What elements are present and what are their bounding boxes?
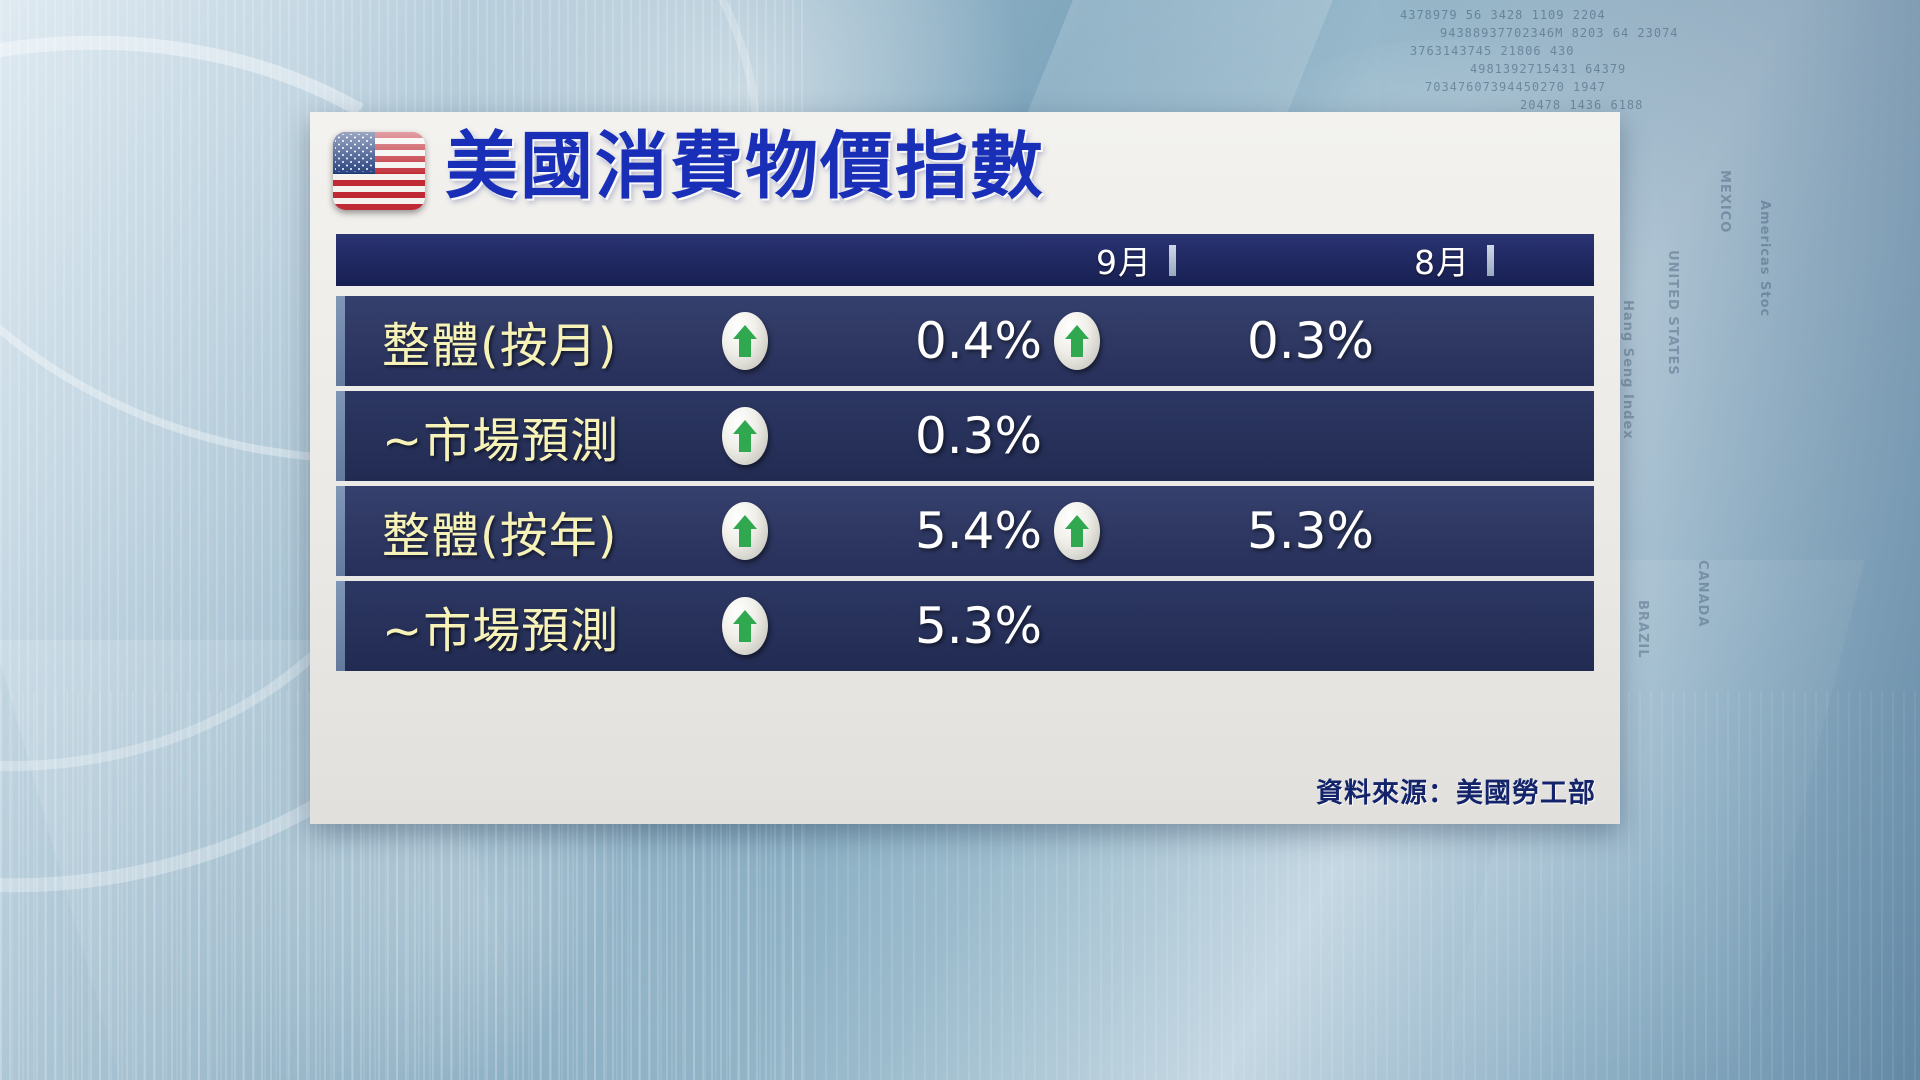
table-body: 整體(按月) 0.4% 0.3% ~市場預測 0.3% [336,296,1594,671]
us-flag-icon [333,132,425,210]
row-edge-accent [336,391,345,481]
column-divider-icon [1169,245,1176,276]
up-arrow-icon [722,597,768,655]
up-arrow-icon [1054,312,1100,370]
up-arrow-icon [722,407,768,465]
row-label: ~市場預測 [382,401,619,471]
row-edge-accent [336,581,345,671]
row-value-sep: 0.4% [806,312,1042,370]
table-row: 整體(按月) 0.4% 0.3% [336,296,1594,386]
row-edge-accent [336,296,345,386]
row-value-sep: 5.4% [806,502,1042,560]
column-header-aug: 8月 [1414,234,1494,286]
column-header-aug-label: 8月 [1414,236,1470,284]
row-edge-accent [336,486,345,576]
column-header-sep-label: 9月 [1096,236,1152,284]
cpi-graphic-panel: 美國消費物價指數 9月 8月 整體(按月) 0.4% [310,112,1620,824]
broadcast-graphic-stage: 4378979 56 3428 1109 2204 94388937702346… [0,0,1920,1080]
page-title: 美國消費物價指數 [445,122,1045,211]
row-value-sep: 0.3% [806,407,1042,465]
table-row: ~市場預測 0.3% [336,391,1594,481]
table-header-band: 9月 8月 [336,234,1594,286]
up-arrow-icon [722,502,768,560]
row-label: ~市場預測 [382,591,619,661]
up-arrow-icon [722,312,768,370]
column-header-sep: 9月 [1096,234,1176,286]
table-row: 整體(按年) 5.4% 5.3% [336,486,1594,576]
panel-titlebar: 美國消費物價指數 [310,112,1620,234]
up-arrow-icon [1054,502,1100,560]
row-label: 整體(按月) [382,306,617,376]
row-value-aug: 0.3% [1136,312,1374,370]
table-row: ~市場預測 5.3% [336,581,1594,671]
row-label: 整體(按年) [382,496,617,566]
source-attribution: 資料來源：美國勞工部 [1316,771,1596,810]
column-divider-icon [1487,245,1494,276]
row-value-aug: 5.3% [1136,502,1374,560]
row-value-sep: 5.3% [806,597,1042,655]
